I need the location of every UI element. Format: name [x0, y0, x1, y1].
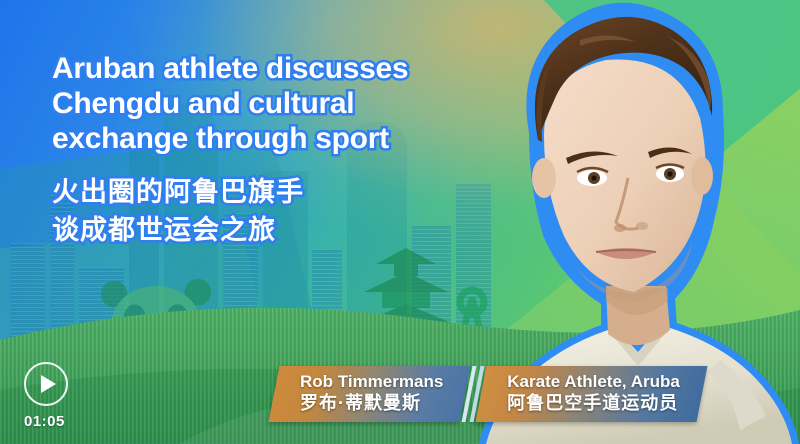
lower-third-banner: Rob Timmermans 罗布·蒂默曼斯 Karate Athlete, A… — [274, 366, 702, 422]
headline-chinese: 火出圈的阿鲁巴旗手 谈成都世运会之旅 — [52, 173, 522, 250]
headline-english-line-1: Aruban athlete discusses — [52, 52, 522, 87]
headline-english: Aruban athlete discusses Chengdu and cul… — [52, 52, 522, 157]
video-duration: 01:05 — [24, 413, 88, 430]
speaker-role-panel: Karate Athlete, Aruba 阿鲁巴空手道运动员 — [481, 366, 702, 422]
headline-english-line-3: exchange through sport — [52, 122, 522, 157]
headline-english-line-2: Chengdu and cultural — [52, 87, 522, 122]
speaker-role-english: Karate Athlete, Aruba — [507, 373, 680, 391]
headline-block: Aruban athlete discusses Chengdu and cul… — [52, 52, 522, 249]
headline-chinese-line-1: 火出圈的阿鲁巴旗手 — [52, 173, 522, 211]
speaker-name-english: Rob Timmermans — [300, 373, 443, 391]
headline-chinese-line-2: 谈成都世运会之旅 — [52, 211, 522, 249]
player-controls: 01:05 — [18, 362, 88, 430]
play-triangle-icon — [41, 375, 56, 393]
speaker-role-chinese: 阿鲁巴空手道运动员 — [507, 393, 680, 415]
speaker-name-chinese: 罗布·蒂默曼斯 — [300, 393, 443, 415]
banner-separator — [465, 366, 481, 422]
video-thumbnail-card[interactable]: Aruban athlete discusses Chengdu and cul… — [0, 0, 800, 444]
speaker-name-panel: Rob Timmermans 罗布·蒂默曼斯 — [274, 366, 465, 422]
play-button[interactable] — [24, 362, 68, 406]
